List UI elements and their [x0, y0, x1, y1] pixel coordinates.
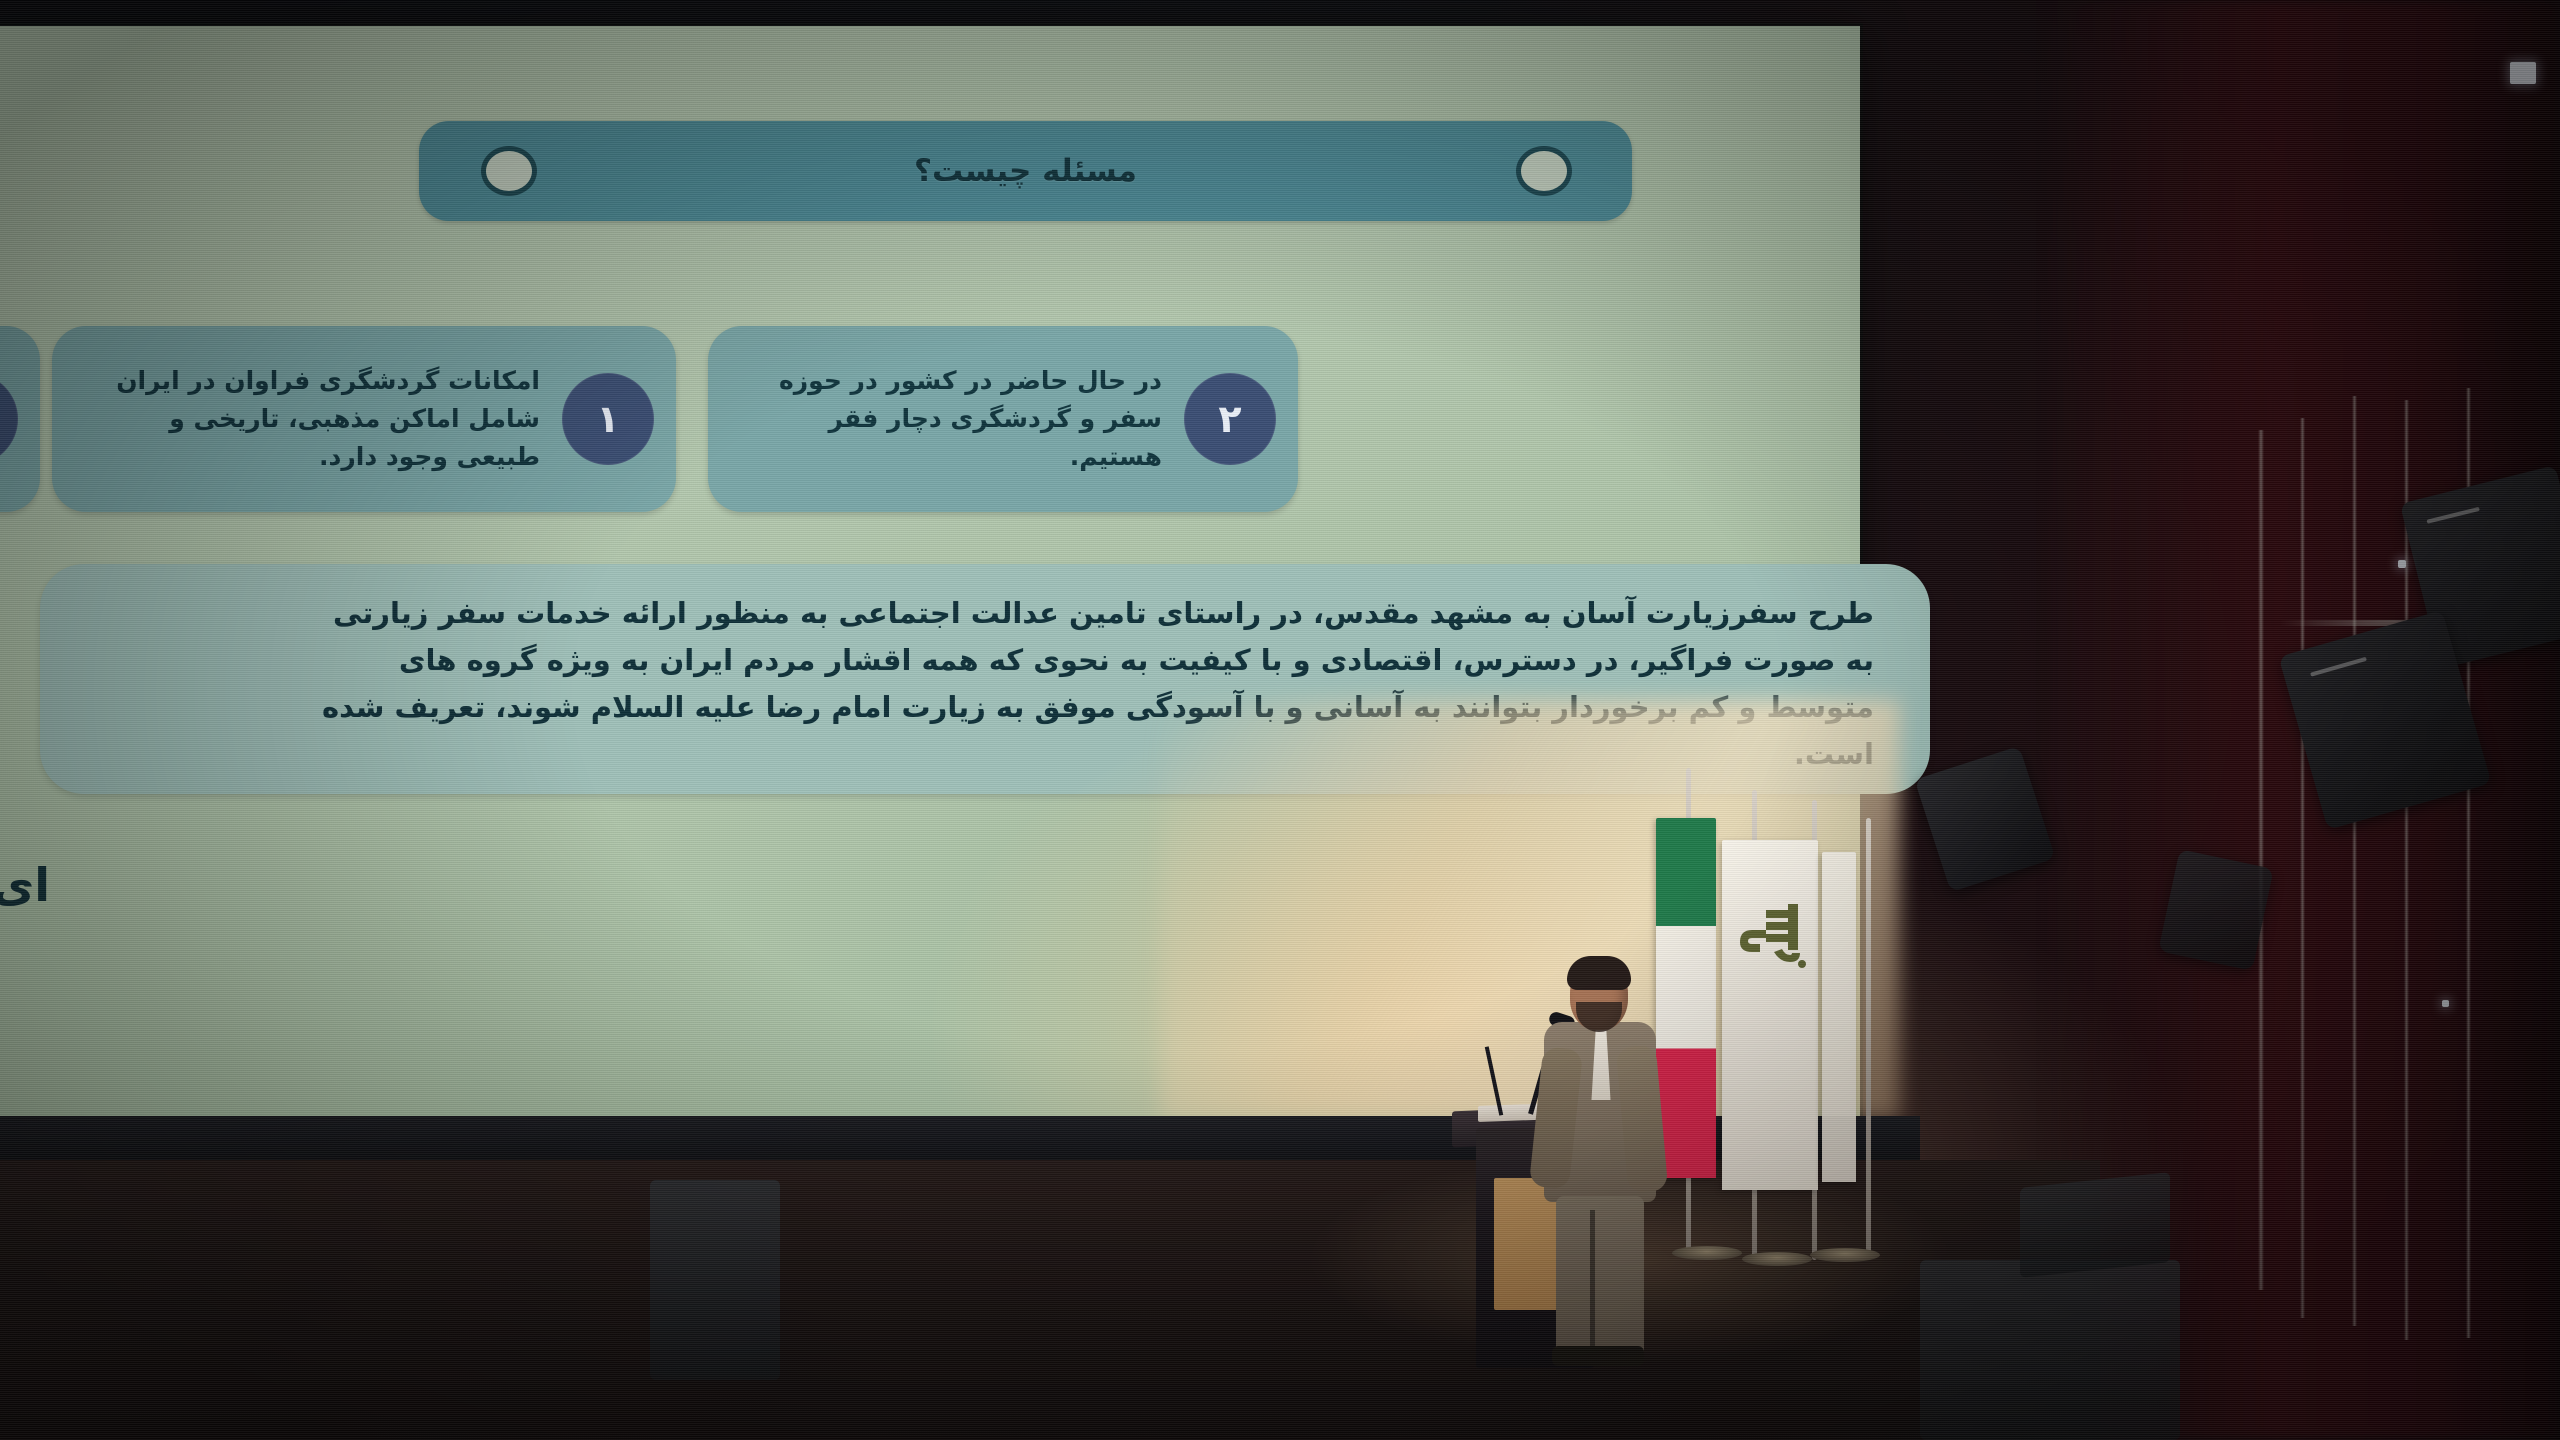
slide-header-pill: مسئله چیست؟ — [419, 121, 1632, 221]
problem-card-3: ۳ دسترسی افراد از مناطق ... و کمتر برخور… — [0, 326, 40, 512]
problem-cards: ۱ امکانات گردشگری فراوان در ایران شامل ا… — [0, 326, 1860, 526]
stage-equipment-case-right — [1920, 1260, 2180, 1440]
speaker-grille-slit-2 — [2310, 657, 2367, 677]
speaker-legs — [1556, 1196, 1644, 1358]
problem-card-1: ۱ امکانات گردشگری فراوان در ایران شامل ا… — [52, 326, 676, 512]
flag-stand-3 — [1810, 1248, 1880, 1262]
flag-stand-1 — [1672, 1246, 1742, 1260]
header-dot-right-icon — [1516, 146, 1572, 196]
monitor-wedge — [2020, 1172, 2170, 1278]
organization-emblem-icon — [1722, 890, 1818, 1040]
truss-indicator-light — [2398, 560, 2406, 568]
third-flag — [1822, 852, 1856, 1182]
organization-flag — [1722, 840, 1818, 1190]
speaker-person — [1540, 960, 1660, 1360]
stage-equipment-case-left — [650, 1180, 780, 1380]
flagpole-4 — [1866, 818, 1871, 1258]
truss-pole-2 — [2300, 418, 2305, 1318]
ceiling-light-icon — [2510, 62, 2536, 84]
truss-pole-3 — [2352, 396, 2357, 1326]
truss-pole-1 — [2258, 430, 2264, 1290]
description-line-2: به صورت فراگیر، در دسترس، اقتصادی و با ک… — [80, 637, 1874, 684]
speaker-grille-slit — [2426, 507, 2479, 524]
speaker-leg-separation — [1590, 1210, 1595, 1350]
description-line-1: طرح سفرزیارت آسان به مشهد مقدس، در راستا… — [80, 590, 1874, 637]
header-dot-left-icon — [481, 146, 537, 196]
card-badge-1: ۱ — [562, 373, 654, 465]
truss-indicator-light-2 — [2442, 1000, 2449, 1007]
slide-title: مسئله چیست؟ — [914, 153, 1137, 189]
photo-stage: مسئله چیست؟ ۱ امکانات گردشگری فراوان در … — [0, 0, 2560, 1440]
problem-card-2: ۲ در حال حاضر در کشور در حوزه سفر و گردش… — [708, 326, 1298, 512]
iran-flag — [1656, 818, 1716, 1178]
speaker-shoes — [1552, 1346, 1644, 1366]
slide-bottom-partial-text: ای — [0, 858, 50, 912]
card-text-1: امکانات گردشگری فراوان در ایران شامل اما… — [52, 362, 540, 476]
flag-stand-2 — [1742, 1252, 1812, 1266]
card-badge-3: ۳ — [0, 373, 18, 465]
card-text-2: در حال حاضر در کشور در حوزه سفر و گردشگر… — [708, 362, 1162, 476]
speaker-hair — [1567, 956, 1631, 990]
card-badge-2: ۲ — [1184, 373, 1276, 465]
